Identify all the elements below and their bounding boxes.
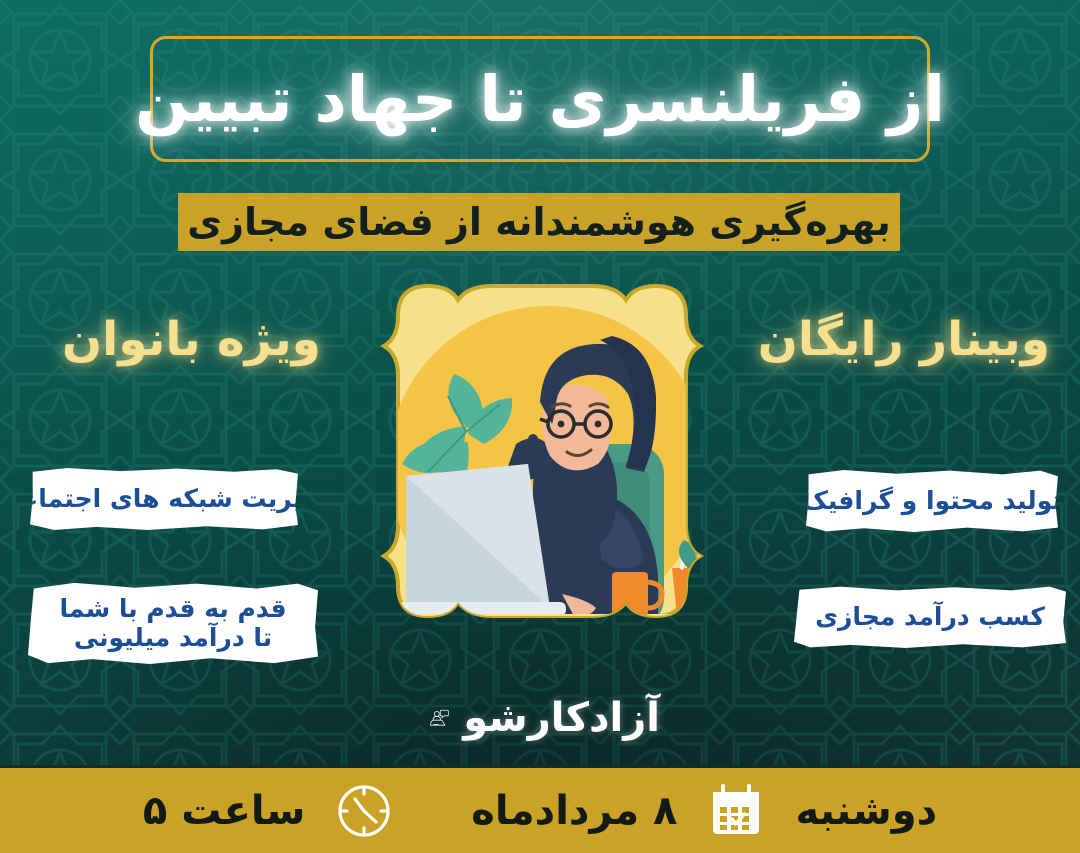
brand-logo[interactable]: آزادکارشو (430, 676, 660, 760)
badge-label: مدیریت شبکه های اجتماعی (0, 484, 332, 514)
badge-label: کسب درآمد مجازی (815, 602, 1045, 632)
badge-social-media-management[interactable]: مدیریت شبکه های اجتماعی (30, 468, 298, 530)
calendar-icon (707, 782, 765, 840)
event-day: دوشنبه (795, 788, 937, 834)
event-footer-bar: دوشنبه ۸ مردادماه (0, 765, 1080, 853)
woman-working-on-laptop-illustration (316, 276, 768, 664)
brand-name: آزادکارشو (463, 695, 660, 741)
poster-subtitle-band: بهره‌گیری هوشمندانه از فضای مجازی (178, 193, 900, 251)
webinar-poster: از فریلنسری تا جهاد تبیین بهره‌گیری هوشم… (0, 0, 1080, 853)
free-webinar-label: وبینار رایگان (758, 312, 1050, 367)
poster-subtitle: بهره‌گیری هوشمندانه از فضای مجازی (187, 200, 890, 244)
badge-label-line1: قدم به قدم با شما (59, 594, 286, 624)
badge-virtual-income[interactable]: کسب درآمد مجازی (794, 586, 1066, 648)
badge-label-line2: تا درآمد میلیونی (59, 623, 286, 653)
badge-content-and-graphics[interactable]: تولید محتوا و گرافیک (806, 470, 1058, 532)
poster-title-box: از فریلنسری تا جهاد تبیین (150, 36, 930, 162)
clock-icon (335, 782, 393, 840)
poster-title: از فریلنسری تا جهاد تبیین (135, 63, 945, 136)
person-at-laptop-with-speech-bubble-icon (430, 687, 449, 749)
badge-step-by-step-income[interactable]: قدم به قدم با شما تا درآمد میلیونی (28, 582, 318, 664)
ladies-only-label: ویژه بانوان (62, 312, 321, 367)
event-time: ساعت ۵ (143, 788, 305, 834)
badge-label: تولید محتوا و گرافیک (802, 486, 1062, 516)
event-date: ۸ مردادماه (471, 788, 677, 834)
